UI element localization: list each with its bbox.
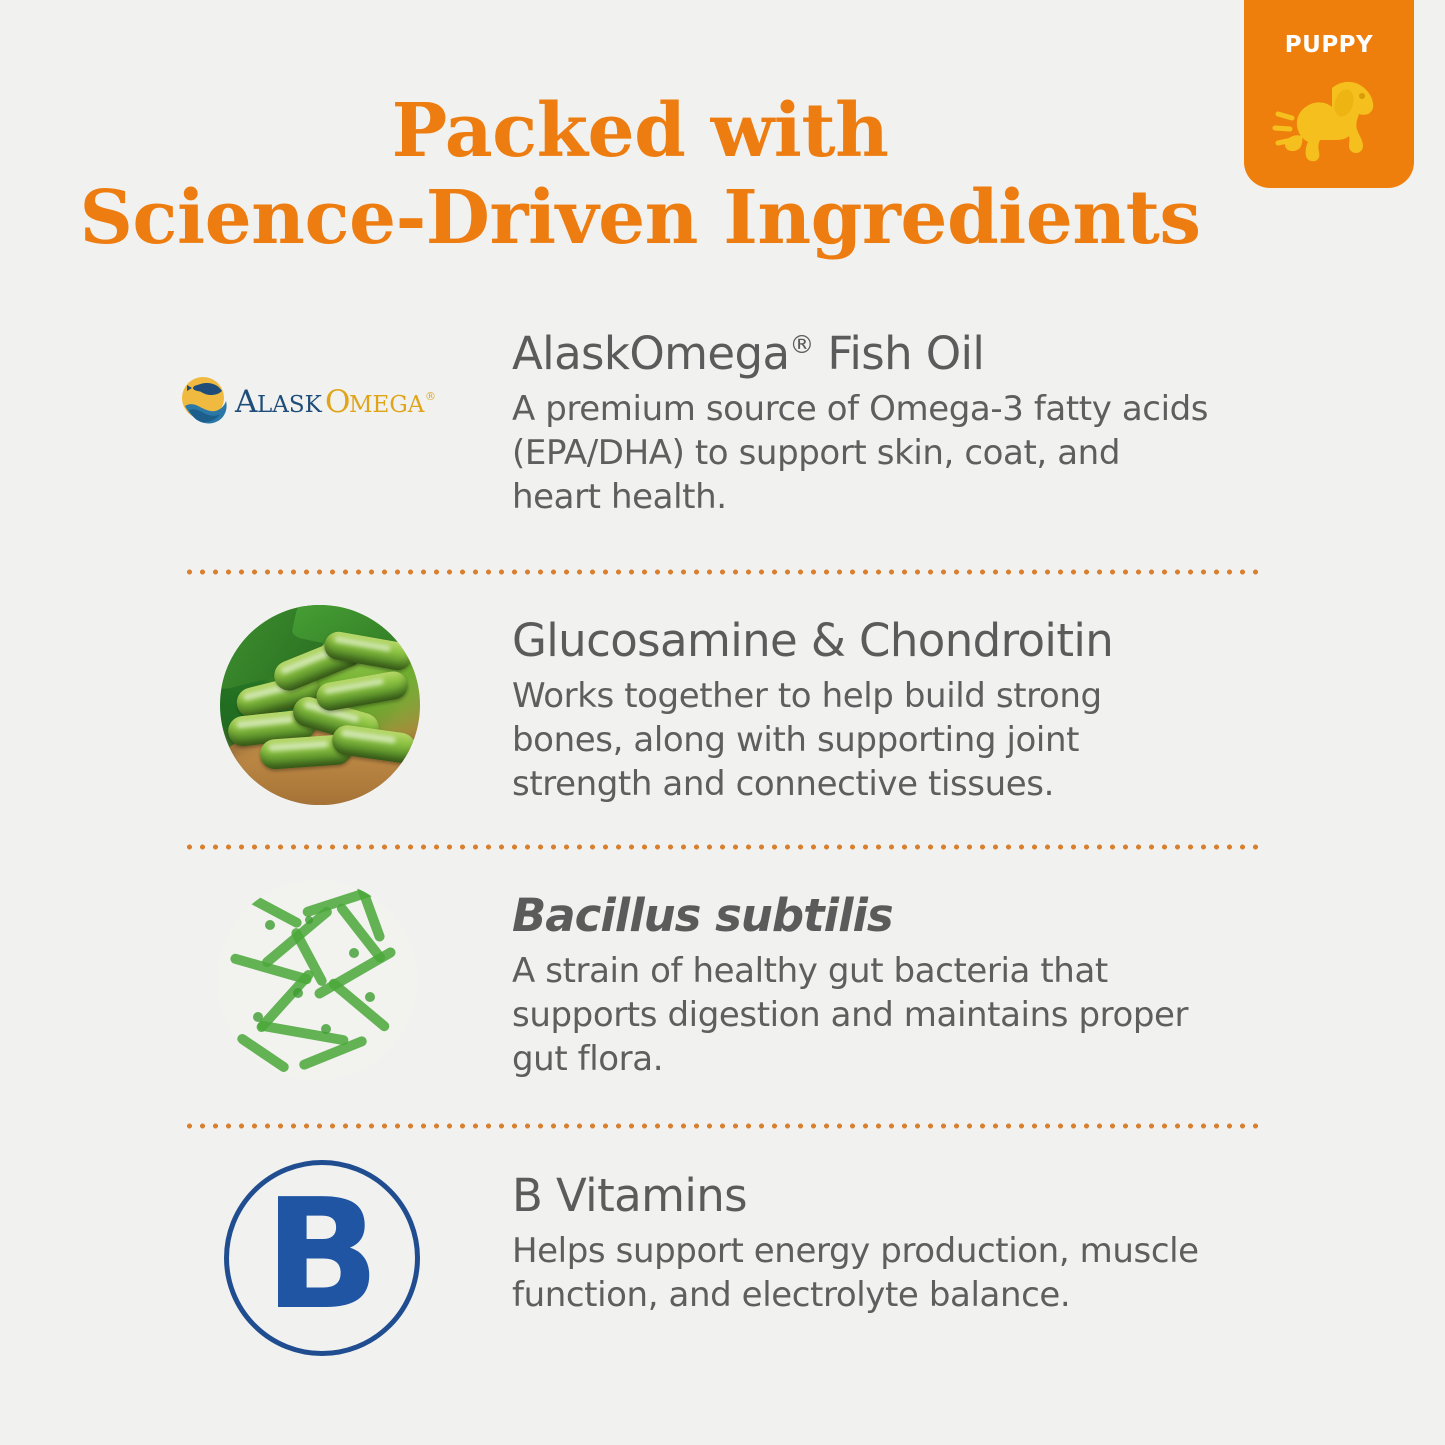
ingredient-text-bacillus: Bacillus subtilis A strain of healthy gu…: [512, 892, 1212, 1081]
ingredient-title: AlaskOmega® Fish Oil: [512, 330, 1212, 379]
page-title-line1: Packed with: [392, 88, 889, 174]
page-title-line2: Science-Driven Ingredients: [0, 175, 1280, 262]
green-capsules-photo: [220, 605, 420, 805]
bacteria-dot: [349, 948, 359, 958]
bacteria-dot: [321, 1024, 331, 1034]
ingredient-description: A strain of healthy gut bacteria that su…: [512, 949, 1212, 1082]
bacteria-dot: [365, 992, 375, 1002]
ingredient-title-rest: Fish Oil: [814, 327, 985, 380]
bacteria-microscope-photo: [217, 880, 417, 1080]
ingredient-title-main: AlaskOmega: [512, 327, 789, 380]
svg-text:A: A: [234, 384, 258, 420]
letter-b-icon-wrapper: B: [212, 1160, 432, 1356]
ingredient-title: B Vitamins: [512, 1172, 1212, 1221]
letter-b-circle-icon: B: [224, 1160, 420, 1356]
bacteria-chain: [327, 977, 392, 1034]
bacteria-dot: [253, 1012, 263, 1022]
svg-text:LASK: LASK: [257, 392, 323, 418]
divider-1: [183, 568, 1266, 576]
bacteria-dot: [293, 988, 303, 998]
ingredient-description: Works together to help build strong bone…: [512, 674, 1212, 807]
bacteria-chain: [235, 1032, 290, 1074]
alaskomega-logo-wrapper: A LASK O MEGA ®: [173, 370, 393, 432]
ingredient-title: Bacillus subtilis: [512, 892, 1212, 941]
ingredient-title: Glucosamine & Chondroitin: [512, 617, 1212, 666]
svg-text:O: O: [325, 384, 350, 420]
svg-text:MEGA: MEGA: [349, 392, 425, 418]
puppy-badge-label: PUPPY: [1244, 32, 1414, 58]
alaskomega-logo: A LASK O MEGA ®: [173, 370, 463, 432]
registered-mark: ®: [789, 330, 813, 359]
ingredient-description: Helps support energy production, muscle …: [512, 1229, 1212, 1317]
ingredient-text-b-vitamins: B Vitamins Helps support energy producti…: [512, 1172, 1212, 1317]
ingredient-description: A premium source of Omega-3 fatty acids …: [512, 387, 1212, 520]
letter-b-glyph: B: [229, 1179, 415, 1331]
divider-3: [183, 1122, 1266, 1130]
svg-text:®: ®: [425, 390, 436, 403]
bacteria-dot: [265, 920, 275, 930]
ingredient-text-alaskomega: AlaskOmega® Fish Oil A premium source of…: [512, 330, 1212, 519]
ingredient-text-glucosamine: Glucosamine & Chondroitin Works together…: [512, 617, 1212, 806]
bacteria-photo-wrapper: [207, 880, 427, 1080]
puppy-dog-icon: [1268, 72, 1390, 168]
green-capsules-photo-wrapper: [210, 605, 430, 805]
page-title: Packed with Science-Driven Ingredients: [0, 88, 1280, 263]
bacteria-chain: [257, 1020, 349, 1046]
ingredients-infographic: PUPPY Packed with Science-Driven Ingredi…: [0, 0, 1445, 1445]
bacteria-dot: [305, 916, 313, 924]
divider-2: [183, 843, 1266, 851]
